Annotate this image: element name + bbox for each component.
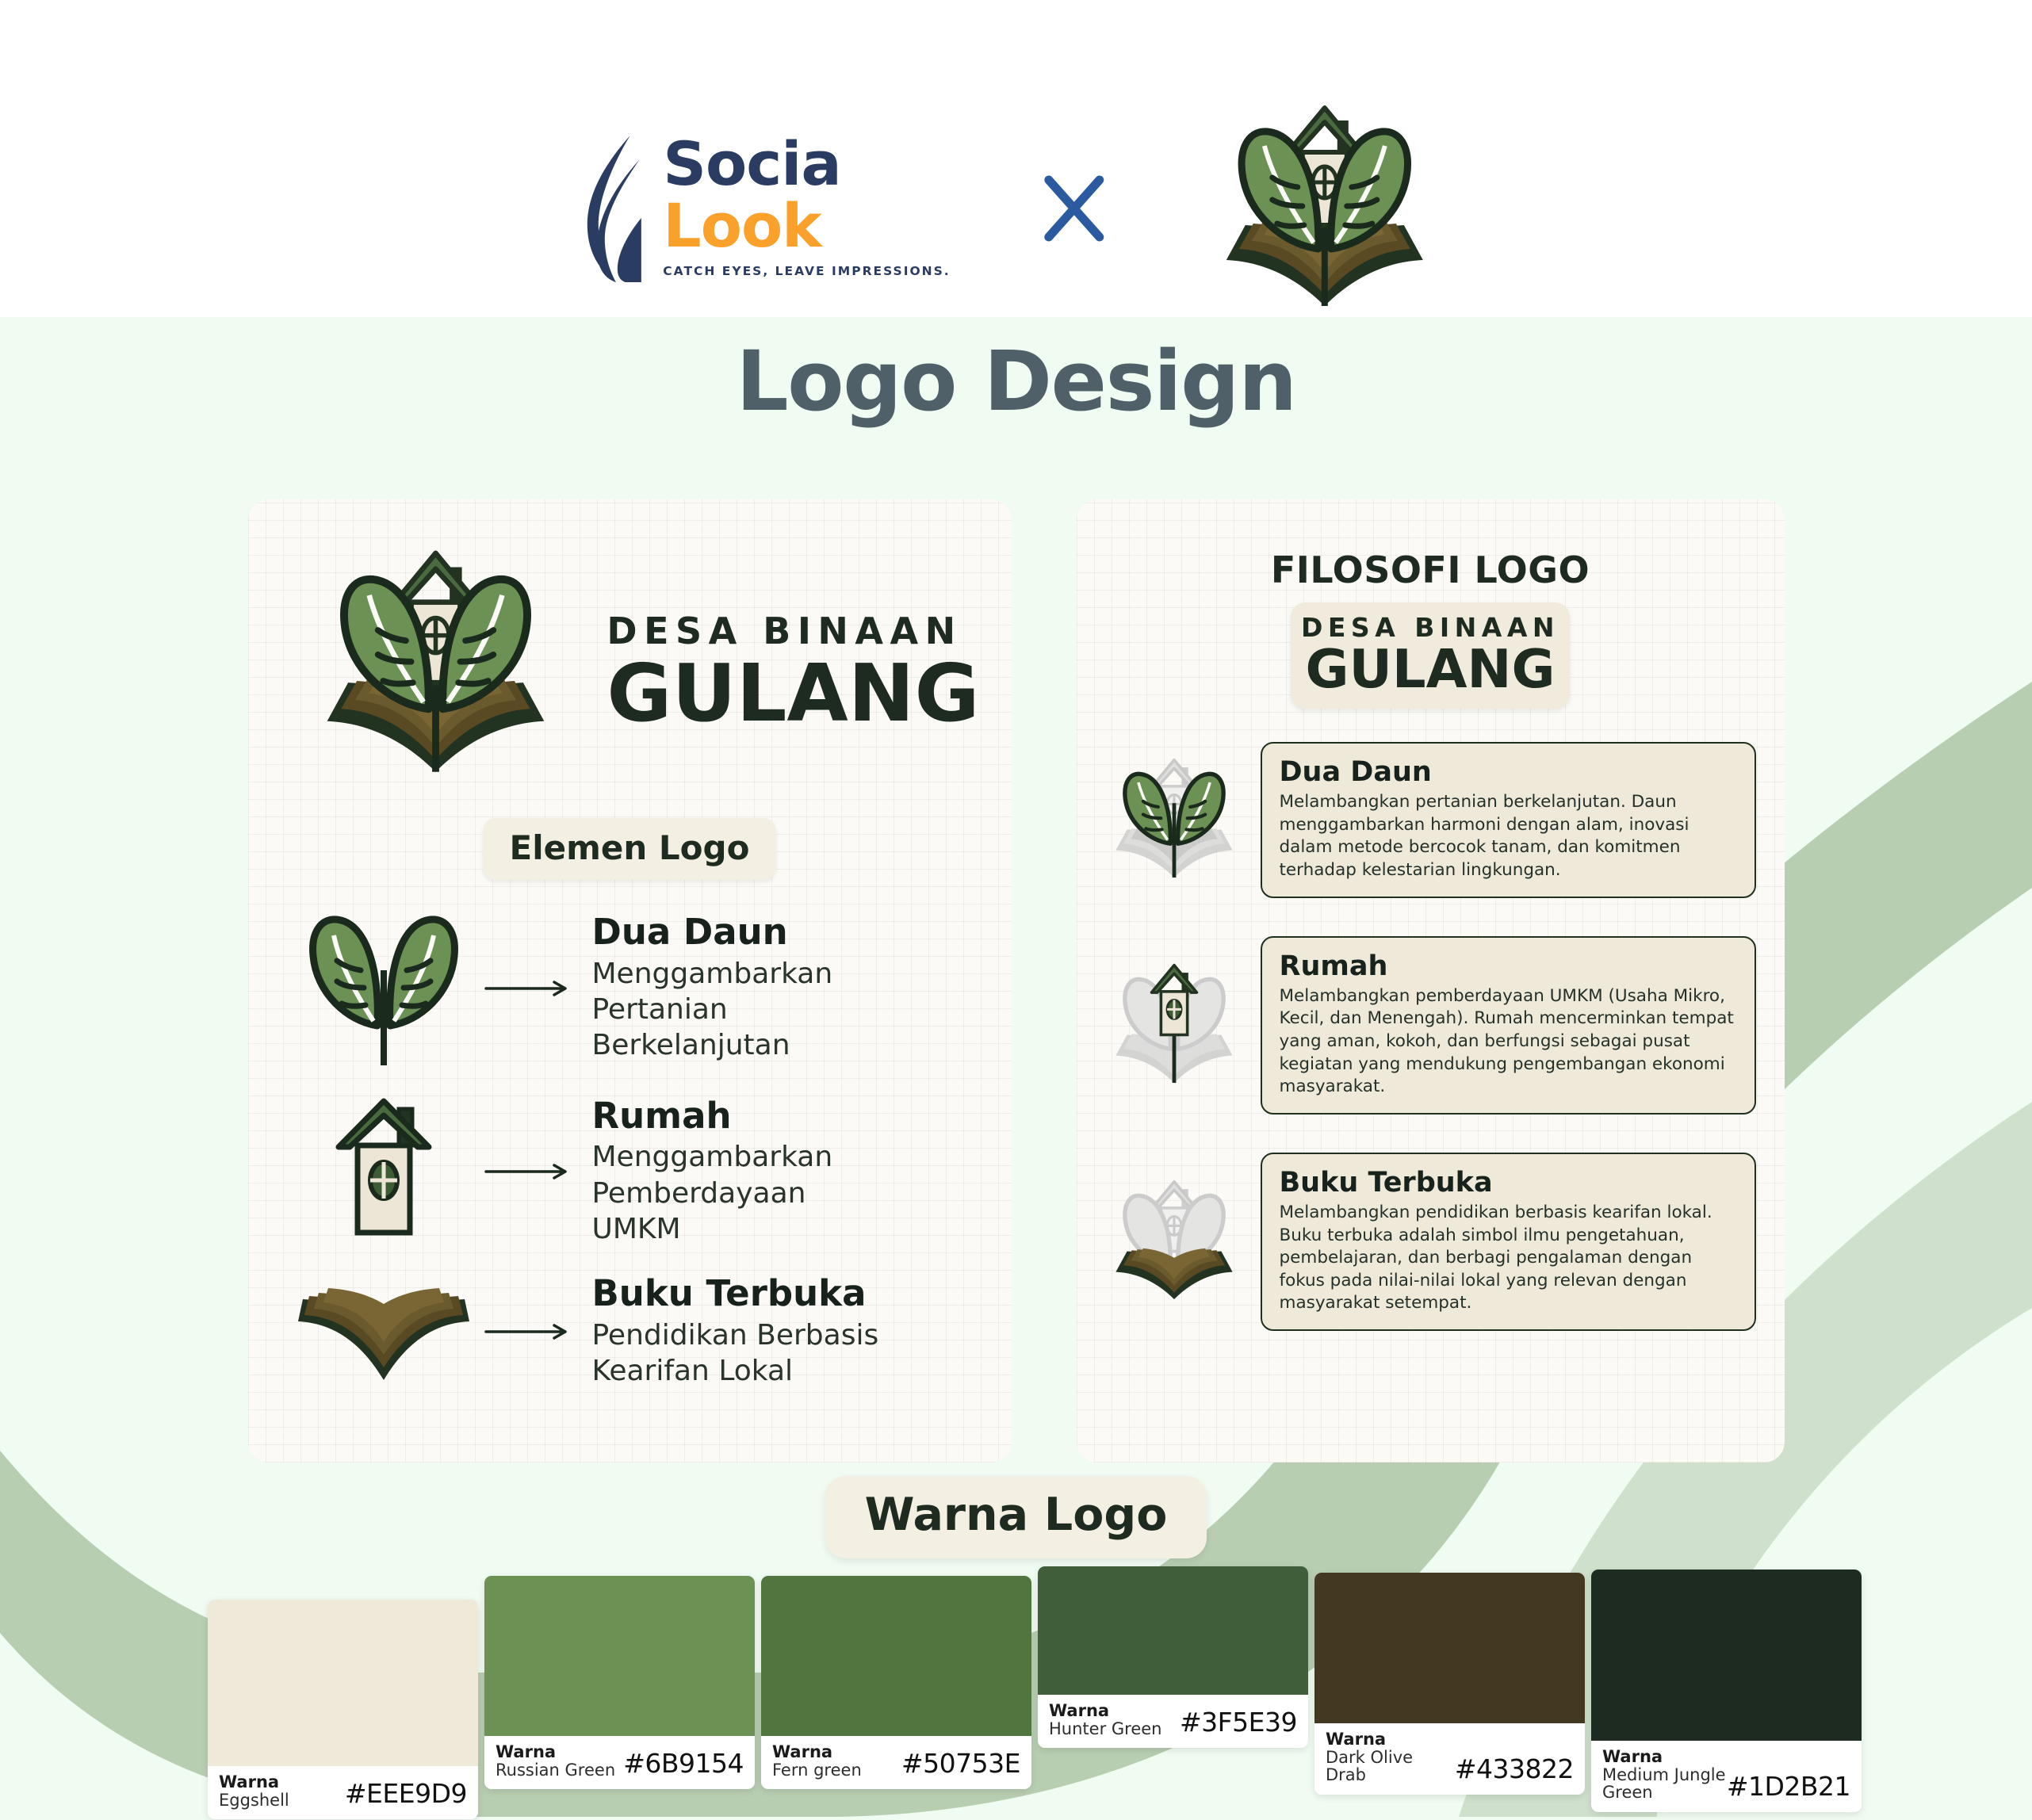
- socialook-tagline: CATCH EYES, LEAVE IMPRESSIONS.: [663, 264, 950, 278]
- list-item: Rumah Melambangkan pemberdayaan UMKM (Us…: [1099, 936, 1756, 1115]
- swatch-hex-value: #50753E: [901, 1748, 1020, 1779]
- philosophy-card-title: Buku Terbuka: [1280, 1167, 1737, 1199]
- house-icon: [293, 1096, 475, 1247]
- socialook-wordmark: Socia Look CATCH EYES, LEAVE IMPRESSIONS…: [663, 136, 950, 278]
- swatch-color-name: Medium Jungle Green: [1602, 1766, 1727, 1802]
- page-title: Logo Design: [0, 333, 2032, 430]
- swatch-hex-value: #3F5E39: [1180, 1707, 1297, 1738]
- swatch-color-name: Dark Olive Drab: [1326, 1749, 1455, 1784]
- swatch-color-name: Eggshell: [219, 1791, 289, 1810]
- color-swatch[interactable]: Warna Medium Jungle Green #1D2B21: [1591, 1570, 1862, 1812]
- list-item-desc: Menggambarkan Pemberdayaan UMKM: [592, 1139, 967, 1247]
- badge-line-gulang: GULANG: [1291, 643, 1570, 696]
- list-item-desc: Menggambarkan Pertanian Berkelanjutan: [592, 956, 967, 1064]
- color-swatch[interactable]: Warna Fern green #50753E: [761, 1576, 1031, 1789]
- brand-row: Socia Look CATCH EYES, LEAVE IMPRESSIONS…: [580, 94, 1451, 323]
- swatch-label-prefix: Warna: [496, 1743, 615, 1761]
- logo-book-highlight-icon: [1099, 1170, 1249, 1313]
- swatch-label-prefix: Warna: [1602, 1748, 1727, 1766]
- elemen-logo-label: Elemen Logo: [483, 818, 777, 880]
- header-bar: Socia Look CATCH EYES, LEAVE IMPRESSIONS…: [0, 0, 2032, 317]
- swatch-hex-value: #1D2B21: [1727, 1771, 1850, 1802]
- filosofi-list: Dua Daun Melambangkan pertanian berkelan…: [1077, 742, 1785, 1331]
- two-leaves-icon: [293, 907, 475, 1069]
- desa-binaan-gulang-logo-icon: [1198, 94, 1452, 323]
- arrow-right-icon: [484, 1321, 572, 1342]
- elemen-logo-panel: DESA BINAAN GULANG Elemen Logo: [248, 499, 1012, 1462]
- philosophy-card-title: Rumah: [1280, 950, 1737, 982]
- logo-leaves-highlight-icon: [1099, 748, 1249, 891]
- list-item-text: Rumah Menggambarkan Pemberdayaan UMKM: [581, 1096, 967, 1247]
- list-item: Buku Terbuka Pendidikan Berbasis Kearifa…: [293, 1274, 967, 1389]
- list-item-text: Buku Terbuka Pendidikan Berbasis Kearifa…: [581, 1274, 967, 1389]
- socialook-word-socia: Socia: [663, 136, 950, 193]
- swatch-hex-value: #6B9154: [623, 1748, 744, 1779]
- open-book-icon: [293, 1280, 475, 1383]
- filosofi-heading: FILOSOFI LOGO: [1077, 499, 1785, 591]
- swatch-label-prefix: Warna: [1049, 1702, 1161, 1720]
- philosophy-card: Rumah Melambangkan pemberdayaan UMKM (Us…: [1261, 936, 1756, 1115]
- color-swatch[interactable]: Warna Eggshell #EEE9D9: [208, 1600, 478, 1819]
- list-item-desc: Pendidikan Berbasis Kearifan Lokal: [592, 1317, 967, 1390]
- swatch-chip: [1314, 1573, 1585, 1723]
- swatch-label-prefix: Warna: [1326, 1730, 1455, 1749]
- swatch-color-name: Russian Green: [496, 1761, 615, 1780]
- list-item-title: Rumah: [592, 1096, 967, 1136]
- swatch-chip: [1591, 1570, 1862, 1741]
- warna-logo-heading-wrap: Warna Logo: [0, 1476, 2032, 1558]
- logo-wordmark: DESA BINAAN GULANG: [607, 610, 979, 733]
- socialook-word-look: Look: [663, 196, 950, 256]
- swatch-chip: [761, 1576, 1031, 1736]
- swatch-label-prefix: Warna: [219, 1773, 289, 1791]
- logo-house-highlight-icon: [1099, 954, 1249, 1096]
- philosophy-card: Dua Daun Melambangkan pertanian berkelan…: [1261, 742, 1756, 898]
- elemen-logo-label-wrap: Elemen Logo: [248, 818, 1012, 880]
- swatch-chip: [484, 1576, 755, 1736]
- arrow-right-icon: [484, 1161, 572, 1182]
- socialook-mark-icon: [580, 136, 645, 282]
- philosophy-card-body: Melambangkan pertanian berkelanjutan. Da…: [1280, 791, 1737, 881]
- cross-x-icon: [1038, 172, 1111, 245]
- list-item: Buku Terbuka Melambangkan pendidikan ber…: [1099, 1153, 1756, 1331]
- swatch-chip: [1038, 1566, 1308, 1695]
- swatch-label-prefix: Warna: [772, 1743, 862, 1761]
- swatch-color-name: Hunter Green: [1049, 1720, 1161, 1738]
- filosofi-logo-panel: FILOSOFI LOGO DESA BINAAN GULANG: [1077, 499, 1785, 1462]
- philosophy-card-title: Dua Daun: [1280, 756, 1737, 788]
- swatch-color-name: Fern green: [772, 1761, 862, 1780]
- color-swatch[interactable]: Warna Hunter Green #3F5E39: [1038, 1566, 1308, 1748]
- elemen-logo-list: Dua Daun Menggambarkan Pertanian Berkela…: [248, 907, 1012, 1390]
- list-item: Rumah Menggambarkan Pemberdayaan UMKM: [293, 1096, 967, 1247]
- wordmark-line-gulang: GULANG: [607, 654, 979, 733]
- swatch-hex-value: #EEE9D9: [345, 1778, 467, 1809]
- philosophy-card-body: Melambangkan pemberdayaan UMKM (Usaha Mi…: [1280, 985, 1737, 1099]
- arrow-right-icon: [484, 978, 572, 999]
- color-swatch[interactable]: Warna Russian Green #6B9154: [484, 1576, 755, 1789]
- wordmark-line-desa-binaan: DESA BINAAN: [607, 610, 962, 652]
- color-swatch[interactable]: Warna Dark Olive Drab #433822: [1314, 1573, 1585, 1795]
- list-item-title: Dua Daun: [592, 912, 967, 952]
- color-swatch-row: Warna Eggshell #EEE9D9 Warna Russian Gre…: [208, 1566, 1873, 1820]
- warna-logo-heading: Warna Logo: [825, 1476, 1207, 1558]
- philosophy-card: Buku Terbuka Melambangkan pendidikan ber…: [1261, 1153, 1756, 1331]
- list-item-title: Buku Terbuka: [592, 1274, 967, 1313]
- swatch-chip: [208, 1600, 478, 1766]
- logo-mark-icon: [279, 537, 592, 791]
- socialook-logo: Socia Look CATCH EYES, LEAVE IMPRESSIONS…: [580, 136, 950, 282]
- logo-lockup: DESA BINAAN GULANG: [248, 499, 1012, 791]
- swatch-hex-value: #433822: [1455, 1753, 1574, 1784]
- list-item: Dua Daun Melambangkan pertanian berkelan…: [1099, 742, 1756, 898]
- philosophy-card-body: Melambangkan pendidikan berbasis kearifa…: [1280, 1202, 1737, 1315]
- list-item-text: Dua Daun Menggambarkan Pertanian Berkela…: [581, 912, 967, 1063]
- filosofi-badge: DESA BINAAN GULANG: [1291, 602, 1570, 709]
- list-item: Dua Daun Menggambarkan Pertanian Berkela…: [293, 907, 967, 1069]
